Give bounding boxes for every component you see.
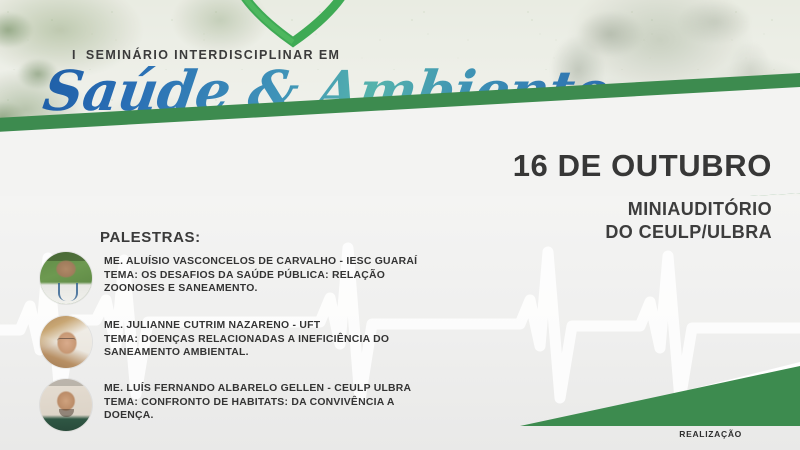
speaker-photo-luis [40, 379, 92, 431]
speaker-details: ME. ALUÍSIO VASCONCELOS DE CARVALHO - IE… [104, 255, 434, 296]
venue-line-2: DO CEULP/ULBRA [605, 221, 772, 244]
heart-icon [218, 0, 368, 50]
realizacao-label: REALIZAÇÃO [679, 429, 742, 439]
speaker-photo-aluisio [40, 252, 92, 304]
event-date: 16 DE OUTUBRO [513, 148, 772, 184]
event-logo [218, 0, 368, 50]
event-poster: ISEMINÁRIO INTERDISCIPLINAR EM Saúde & A… [0, 0, 800, 450]
speaker-topic-line-2: ZOONOSES E SANEAMENTO. [104, 282, 434, 296]
speaker-details: ME. JULIANNE CUTRIM NAZARENO - UFT TEMA:… [104, 319, 434, 360]
speaker-topic-line-2: SANEAMENTO AMBIENTAL. [104, 346, 434, 360]
palestras-heading: PALESTRAS: [100, 229, 201, 246]
speaker-topic-line-1: TEMA: DOENÇAS RELACIONADAS A INEFICIÊNCI… [104, 333, 434, 347]
speaker-name-affiliation: ME. LUÍS FERNANDO ALBARELO GELLEN - CEUL… [104, 382, 434, 396]
speaker-topic-line-1: TEMA: CONFRONTO DE HABITATS: DA CONVIVÊN… [104, 396, 434, 410]
speaker-name-affiliation: ME. JULIANNE CUTRIM NAZARENO - UFT [104, 319, 434, 333]
speaker-topic-line-1: TEMA: OS DESAFIOS DA SAÚDE PÚBLICA: RELA… [104, 269, 434, 283]
event-venue: MINIAUDITÓRIO DO CEULP/ULBRA [605, 198, 772, 244]
speaker-photo-julianne [40, 316, 92, 368]
speaker-name-affiliation: ME. ALUÍSIO VASCONCELOS DE CARVALHO - IE… [104, 255, 434, 269]
speaker-topic-line-2: DOENÇA. [104, 409, 434, 423]
speaker-details: ME. LUÍS FERNANDO ALBARELO GELLEN - CEUL… [104, 382, 434, 423]
venue-line-1: MINIAUDITÓRIO [605, 198, 772, 221]
